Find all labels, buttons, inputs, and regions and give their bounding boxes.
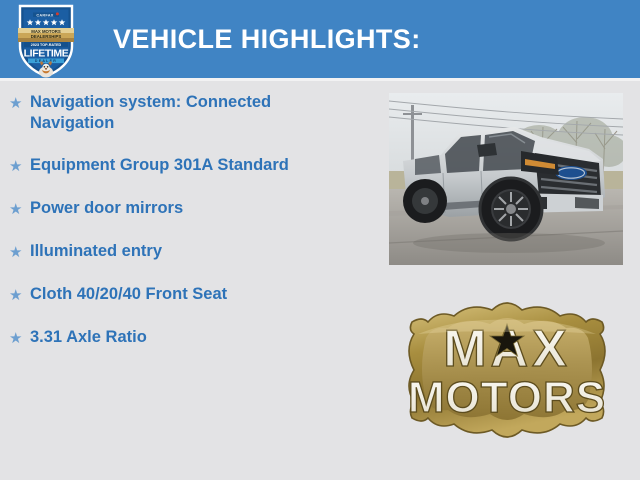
list-item: ★ Cloth 40/20/40 Front Seat bbox=[0, 284, 372, 306]
list-item: ★ Navigation system: Connected Navigatio… bbox=[0, 92, 372, 134]
max-motors-logo: MAX MOTORS bbox=[398, 294, 616, 454]
list-item: ★ Power door mirrors bbox=[0, 198, 372, 220]
vehicle-highlights-slide: CARFAX MAX MOTORS DEALERSHIPS 2 bbox=[0, 0, 640, 480]
list-item: ★ 3.31 Axle Ratio bbox=[0, 327, 372, 349]
vehicle-highlights-list: ★ Navigation system: Connected Navigatio… bbox=[0, 92, 372, 370]
star-bullet-icon: ★ bbox=[9, 284, 30, 306]
list-item-label: Equipment Group 301A Standard bbox=[30, 155, 289, 176]
svg-text:DEALERSHIPS: DEALERSHIPS bbox=[31, 34, 62, 39]
svg-text:LIFETIME: LIFETIME bbox=[24, 48, 69, 60]
list-item-label: Illuminated entry bbox=[30, 241, 162, 262]
slide-header: CARFAX MAX MOTORS DEALERSHIPS 2 bbox=[0, 0, 640, 78]
star-bullet-icon: ★ bbox=[9, 155, 30, 177]
page-title: VEHICLE HIGHLIGHTS: bbox=[113, 24, 421, 55]
svg-text:CARFAX: CARFAX bbox=[36, 12, 53, 17]
list-item-label: Power door mirrors bbox=[30, 198, 183, 219]
vehicle-photo bbox=[389, 93, 623, 265]
carfax-top-rated-dealer-badge-icon: CARFAX MAX MOTORS DEALERSHIPS 2 bbox=[16, 2, 76, 78]
list-item-label: Cloth 40/20/40 Front Seat bbox=[30, 284, 227, 305]
list-item: ★ Equipment Group 301A Standard bbox=[0, 155, 372, 177]
star-bullet-icon: ★ bbox=[9, 92, 30, 114]
list-item-label: 3.31 Axle Ratio bbox=[30, 327, 147, 348]
star-bullet-icon: ★ bbox=[9, 327, 30, 349]
star-bullet-icon: ★ bbox=[9, 241, 30, 263]
svg-text:DEALER: DEALER bbox=[35, 59, 57, 63]
header-divider bbox=[0, 78, 640, 81]
star-bullet-icon: ★ bbox=[9, 198, 30, 220]
list-item-label: Navigation system: Connected Navigation bbox=[30, 92, 350, 134]
list-item: ★ Illuminated entry bbox=[0, 241, 372, 263]
svg-text:MOTORS: MOTORS bbox=[408, 373, 606, 422]
